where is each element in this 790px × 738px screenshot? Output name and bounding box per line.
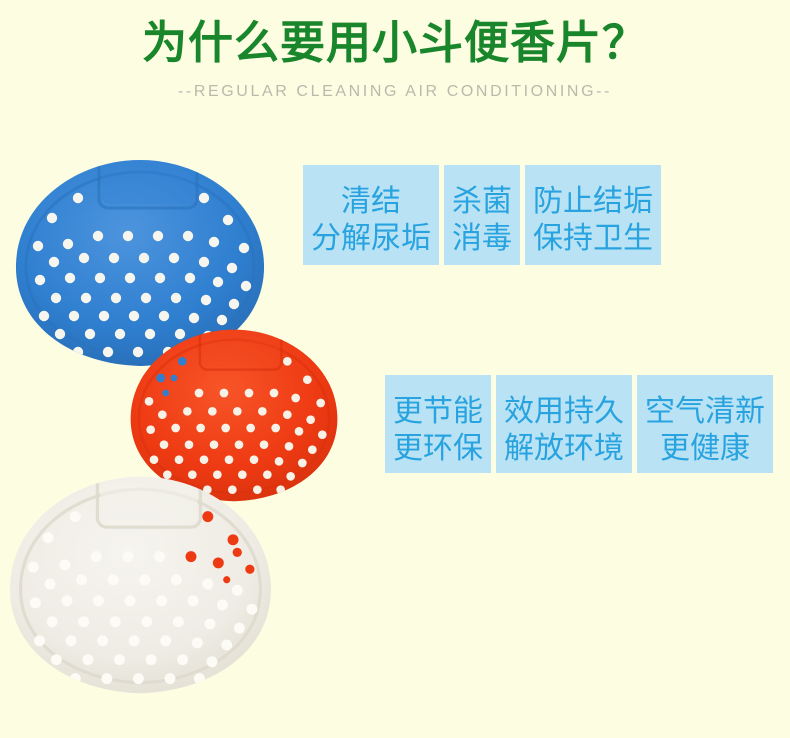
feature-box-energy-saving-eco: 更节能 更环保 xyxy=(385,375,491,473)
feature-line-2: 更健康 xyxy=(645,430,765,467)
urinal-screen-white-image xyxy=(8,455,273,715)
feature-line-2: 分解尿垢 xyxy=(311,220,431,257)
feature-box-clean-urine-scale: 清结 分解尿垢 xyxy=(303,165,439,265)
feature-row-2: 更节能 更环保 效用持久 解放环境 空气清新 更健康 xyxy=(385,375,773,473)
feature-box-prevent-scale-hygiene: 防止结垢 保持卫生 xyxy=(525,165,661,265)
feature-line-2: 更环保 xyxy=(393,430,483,467)
feature-box-sterilize-disinfect: 杀菌 消毒 xyxy=(444,165,520,265)
feature-box-fresh-air-healthy: 空气清新 更健康 xyxy=(637,375,773,473)
feature-line-1: 杀菌 xyxy=(452,183,512,220)
feature-row-1: 清结 分解尿垢 杀菌 消毒 防止结垢 保持卫生 xyxy=(303,165,661,265)
feature-line-2: 保持卫生 xyxy=(533,220,653,257)
feature-line-1: 清结 xyxy=(311,183,431,220)
product-banner-page: 为什么要用小斗便香片？ --REGULAR CLEANING AIR CONDI… xyxy=(0,0,790,738)
feature-line-2: 消毒 xyxy=(452,220,512,257)
feature-line-2: 解放环境 xyxy=(504,430,624,467)
feature-line-1: 空气清新 xyxy=(645,393,765,430)
feature-line-1: 防止结垢 xyxy=(533,183,653,220)
feature-line-1: 更节能 xyxy=(393,393,483,430)
feature-box-long-lasting-environment: 效用持久 解放环境 xyxy=(496,375,632,473)
page-title: 为什么要用小斗便香片？ xyxy=(0,14,790,72)
page-subtitle: --REGULAR CLEANING AIR CONDITIONING-- xyxy=(0,82,790,102)
feature-line-1: 效用持久 xyxy=(504,393,624,430)
